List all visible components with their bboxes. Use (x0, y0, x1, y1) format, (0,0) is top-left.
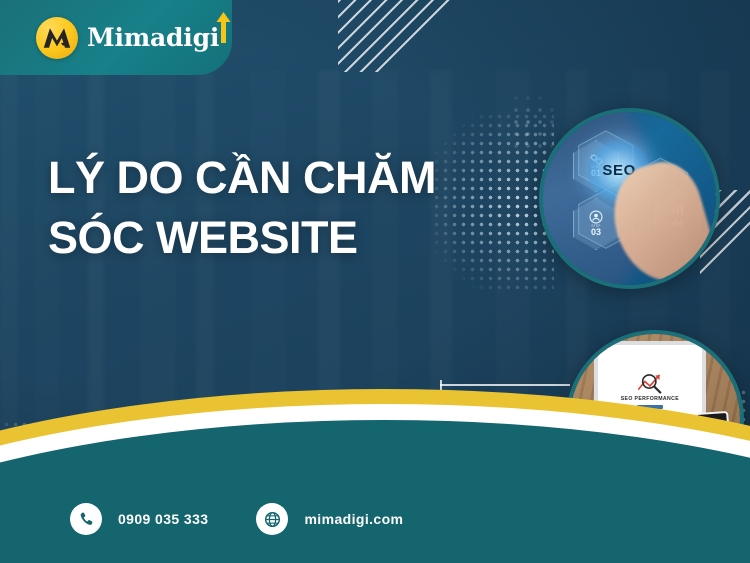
contact-phone[interactable]: 0909 035 333 (70, 503, 208, 535)
logo-wordmark: Mimadigi (87, 23, 219, 52)
globe-icon (256, 503, 288, 535)
magnifier-growth-chart-icon (635, 372, 665, 394)
logo-wordmark-text: Mimadigi (87, 23, 219, 52)
monogram-glyph (42, 25, 72, 51)
laptop-screen-title: SEO PERFORMANCE (621, 396, 679, 402)
growth-arrow-icon (215, 12, 232, 46)
seo-touchscreen-photo: STEP 01 STEP 03 (539, 108, 720, 289)
seo-artwork: STEP 01 STEP 03 (543, 112, 716, 285)
contact-website-label: mimadigi.com (304, 511, 403, 527)
contact-phone-label: 0909 035 333 (118, 511, 208, 527)
page-title: LÝ DO CẦN CHĂM SÓC WEBSITE (48, 148, 468, 268)
logo-panel[interactable]: Mimadigi (0, 0, 232, 75)
teal-footer-arc (0, 420, 750, 563)
phone-icon (70, 503, 102, 535)
marketing-banner: LÝ DO CẦN CHĂM SÓC WEBSITE (0, 0, 750, 563)
user-profile-icon (589, 210, 603, 224)
seo-step-number-03: 03 (591, 228, 601, 238)
horizontal-tick-line-icon (440, 384, 570, 386)
headline-line-2: SÓC WEBSITE (48, 208, 468, 268)
seo-step-label-03: STEP (591, 224, 600, 228)
contact-website[interactable]: mimadigi.com (256, 503, 403, 535)
globe-glyph (263, 510, 282, 529)
footer-contacts: 0909 035 333 mimadigi.com (70, 503, 403, 535)
phone-glyph (78, 511, 95, 528)
headline-line-1: LÝ DO CẦN CHĂM (48, 152, 436, 203)
mimadigi-monogram-icon (36, 17, 78, 59)
